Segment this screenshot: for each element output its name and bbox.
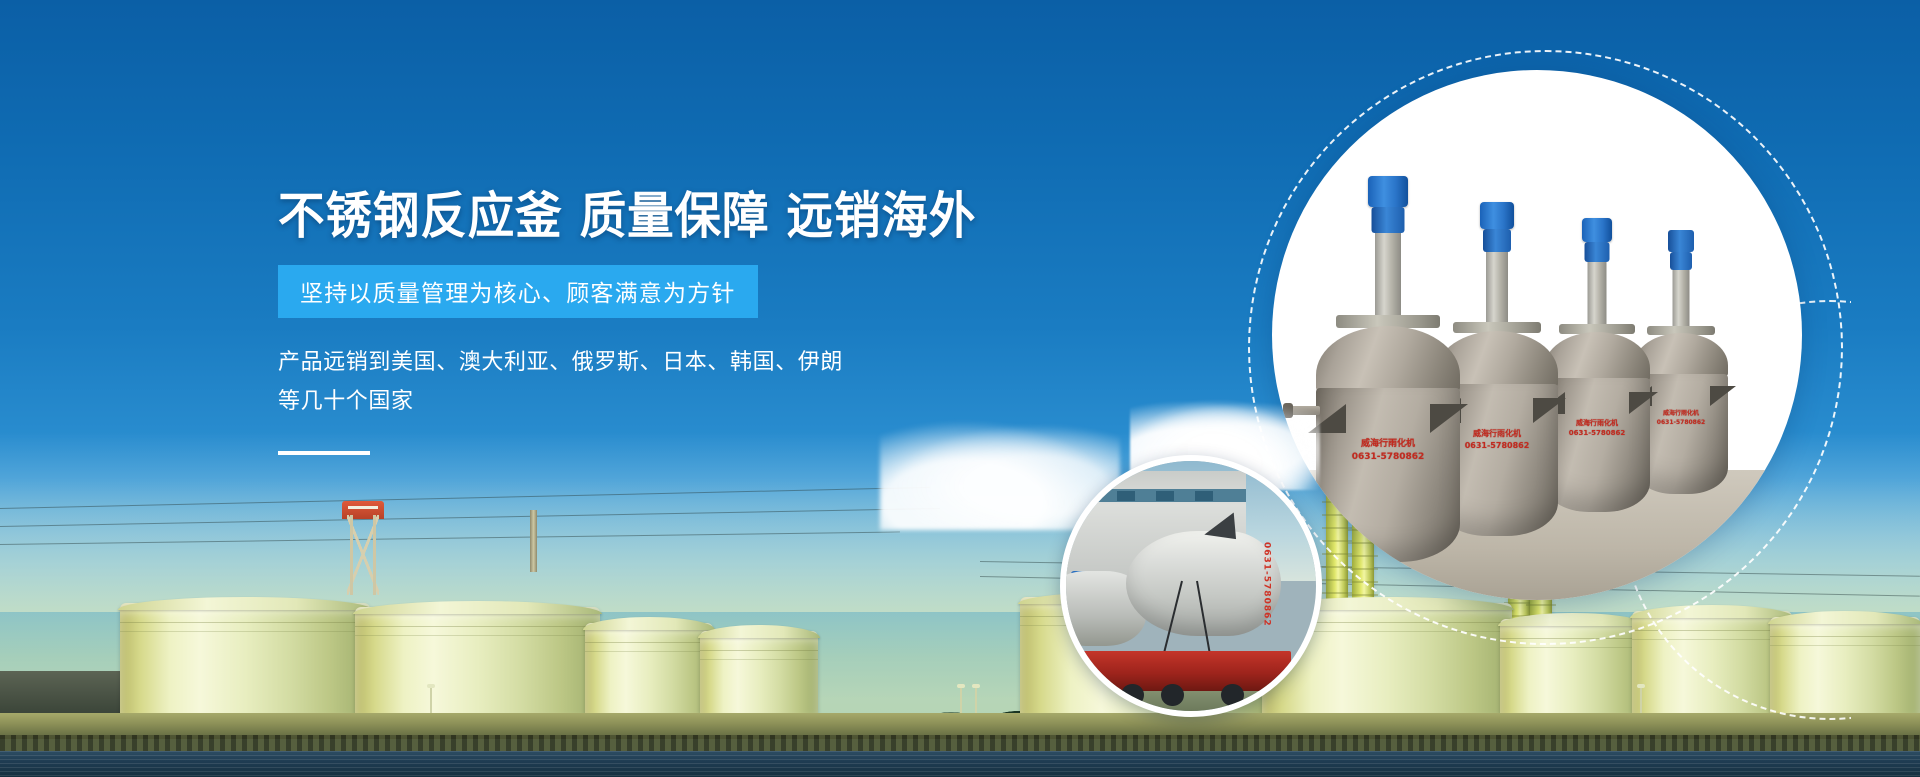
banner-body-text: 产品远销到美国、澳大利亚、俄罗斯、日本、韩国、伊朗 等几十个国家 (278, 344, 898, 421)
quay-lamp (975, 687, 977, 713)
vessel-brand-label: 威海行雨化机 0631-5780862 (1352, 438, 1425, 464)
vessel-dome (1316, 326, 1460, 396)
secondary-product-photo-circle: 0631-5780862 (1060, 455, 1322, 717)
product-photo-circle: 威海行雨化机 0631-5780862 威海行雨化机 (1272, 70, 1802, 600)
tower-leg (373, 515, 376, 595)
agitator-motor-icon (1582, 218, 1612, 242)
vessel-support-fin (1533, 398, 1566, 423)
vessel-brand-label: 威海行雨化机 0631-5780862 (1569, 418, 1625, 438)
agitator-motor-icon (1668, 230, 1694, 252)
storage-tank (120, 603, 370, 715)
banner-text-block: 不锈钢反应釜 质量保障 远销海外 坚持以质量管理为核心、顾客满意为方针 产品远销… (278, 190, 1038, 455)
agitator-gearbox-icon (1670, 252, 1692, 270)
inset-window (1078, 491, 1096, 501)
inset-truck-wheel (1121, 684, 1144, 707)
product-graphic: 威海行雨化机 0631-5780862 威海行雨化机 (1060, 0, 1920, 777)
inset-window (1117, 491, 1135, 501)
inset-transport-truck (1081, 651, 1291, 691)
transmission-tower (347, 515, 379, 595)
vessel-support-fin (1629, 392, 1658, 414)
banner-body-line-2: 等几十个国家 (278, 383, 898, 422)
banner-subtitle-box: 坚持以质量管理为核心、顾客满意为方针 (278, 265, 758, 318)
chimney (530, 510, 537, 572)
agitator-gearbox-icon (1483, 229, 1511, 252)
storage-tank (585, 623, 713, 715)
reactor-vessel: 威海行雨化机 0631-5780862 (1296, 176, 1480, 564)
agitator-motor-icon (1368, 176, 1408, 207)
agitator-gearbox-icon (1585, 242, 1610, 262)
tower-leg (350, 515, 353, 595)
agitator-shaft (1673, 270, 1690, 328)
hero-banner: 不锈钢反应釜 质量保障 远销海外 坚持以质量管理为核心、顾客满意为方针 产品远销… (0, 0, 1920, 777)
banner-subtitle: 坚持以质量管理为核心、顾客满意为方针 (300, 281, 736, 307)
inset-truck-wheel (1161, 684, 1184, 707)
inset-truck-wheel (1221, 684, 1244, 707)
text-divider (278, 451, 370, 455)
inset-brand-label: 0631-5780862 (1262, 542, 1272, 627)
banner-headline: 不锈钢反应釜 质量保障 远销海外 (278, 190, 985, 243)
quay-lamp (430, 687, 432, 713)
agitator-shaft (1486, 252, 1508, 324)
reactor-vessel-group: 威海行雨化机 0631-5780862 威海行雨化机 (1300, 148, 1780, 578)
agitator-shaft (1588, 262, 1607, 326)
inset-support-fin (1204, 509, 1239, 539)
storage-tank (355, 607, 600, 715)
inset-window (1195, 491, 1213, 501)
inset-window (1156, 491, 1174, 501)
vessel-support-fin (1430, 404, 1468, 433)
agitator-motor-icon (1480, 202, 1514, 229)
banner-body-line-1: 产品远销到美国、澳大利亚、俄罗斯、日本、韩国、伊朗 (278, 344, 898, 383)
agitator-shaft (1375, 233, 1401, 317)
storage-tank (700, 631, 818, 715)
agitator-gearbox-icon (1372, 207, 1405, 233)
vessel-support-fin (1710, 386, 1736, 406)
quay-lamp (960, 687, 962, 713)
